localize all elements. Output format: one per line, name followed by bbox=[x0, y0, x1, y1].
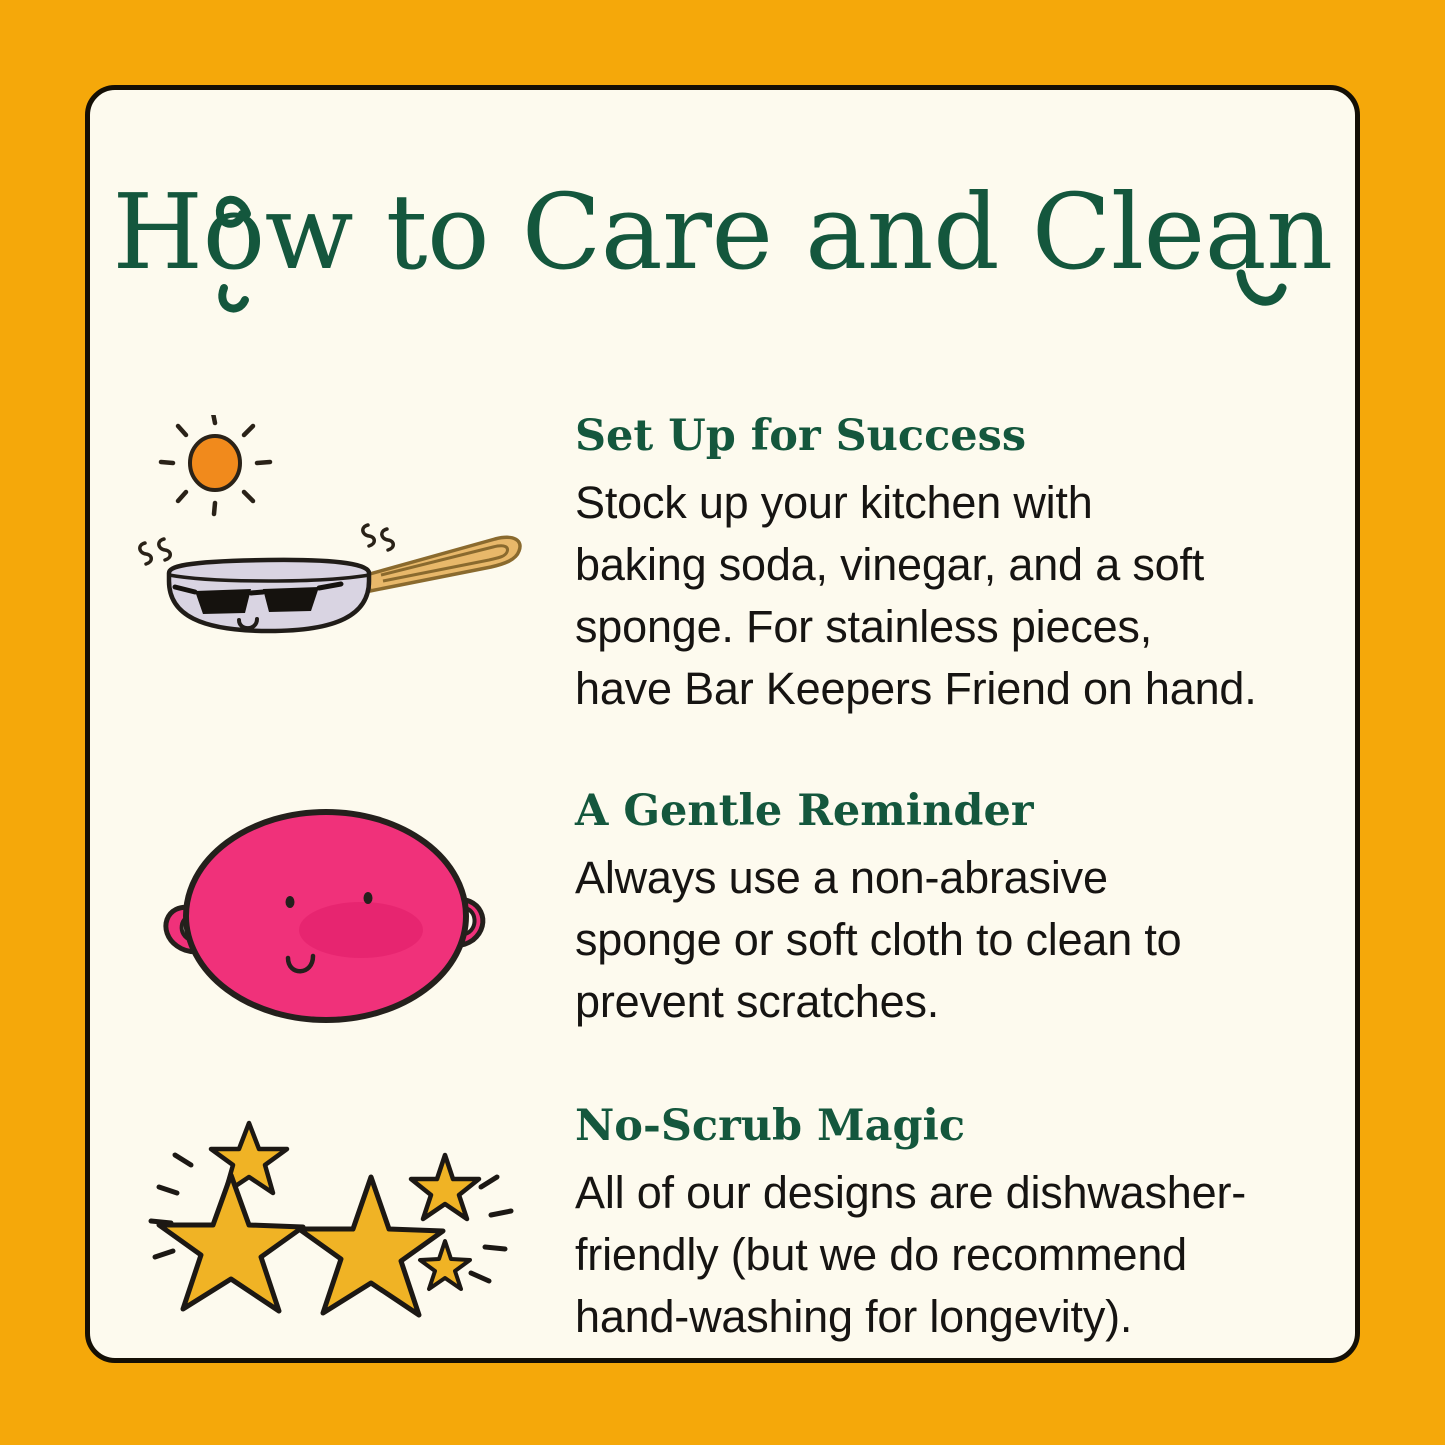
steam-squiggle-right bbox=[362, 525, 392, 550]
illustration-stars bbox=[90, 1105, 575, 1325]
star-small-lower-right bbox=[420, 1241, 470, 1289]
section-text-a-gentle-reminder: A Gentle Reminder Always use a non-abras… bbox=[575, 790, 1355, 1033]
body-line: Stock up your kitchen with bbox=[575, 472, 1325, 534]
section-heading: Set Up for Success bbox=[575, 415, 1325, 458]
section-body: Always use a non-abrasive sponge or soft… bbox=[575, 847, 1325, 1033]
section-row-a-gentle-reminder: A Gentle Reminder Always use a non-abras… bbox=[90, 790, 1355, 1040]
pot-eye-right bbox=[363, 892, 372, 904]
section-body: Stock up your kitchen with baking soda, … bbox=[575, 472, 1325, 720]
pot-eye-left bbox=[285, 896, 294, 908]
body-line: hand-washing for longevity). bbox=[575, 1286, 1325, 1348]
body-line: All of our designs are dishwasher- bbox=[575, 1162, 1325, 1224]
section-heading: A Gentle Reminder bbox=[575, 790, 1325, 833]
sparkling-stars-icon bbox=[133, 1105, 533, 1325]
section-body: All of our designs are dishwasher- frien… bbox=[575, 1162, 1325, 1348]
star-small-top bbox=[211, 1123, 287, 1193]
section-heading: No-Scrub Magic bbox=[575, 1105, 1325, 1148]
pink-oval-pot-with-face-icon bbox=[133, 790, 533, 1040]
star-small-upper-right bbox=[411, 1155, 479, 1219]
body-line: Always use a non-abrasive bbox=[575, 847, 1325, 909]
section-text-set-up-for-success: Set Up for Success Stock up your kitchen… bbox=[575, 415, 1355, 720]
illustration-frying-pan bbox=[90, 415, 575, 675]
sun-icon bbox=[161, 415, 270, 514]
star-large-left bbox=[159, 1175, 303, 1311]
star-large-right bbox=[299, 1177, 443, 1315]
care-instructions-card: How to Care and Clean bbox=[85, 85, 1360, 1363]
page-title: How to Care and Clean bbox=[90, 178, 1355, 287]
pan-handle bbox=[366, 537, 520, 591]
illustration-pink-pot bbox=[90, 790, 575, 1040]
section-row-set-up-for-success: Set Up for Success Stock up your kitchen… bbox=[90, 415, 1355, 720]
pot-shading bbox=[299, 902, 423, 958]
steam-squiggle-left bbox=[139, 539, 169, 564]
swash-capital-S: Set Up for Success bbox=[575, 415, 1026, 458]
body-line: baking soda, vinegar, and a soft bbox=[575, 534, 1325, 596]
body-line: friendly (but we do recommend bbox=[575, 1224, 1325, 1286]
sparkle-dashes-right bbox=[471, 1177, 511, 1281]
frying-pan-with-sunglasses-and-sun-icon bbox=[123, 415, 543, 675]
body-line: sponge or soft cloth to clean to bbox=[575, 909, 1325, 971]
section-text-no-scrub-magic: No-Scrub Magic All of our designs are di… bbox=[575, 1105, 1355, 1348]
title-swash-decoration bbox=[112, 170, 1360, 320]
section-row-no-scrub-magic: No-Scrub Magic All of our designs are di… bbox=[90, 1105, 1355, 1348]
body-line: prevent scratches. bbox=[575, 971, 1325, 1033]
poster-background: How to Care and Clean bbox=[0, 0, 1445, 1445]
body-line: have Bar Keepers Friend on hand. bbox=[575, 658, 1325, 720]
body-line: sponge. For stainless pieces, bbox=[575, 596, 1325, 658]
